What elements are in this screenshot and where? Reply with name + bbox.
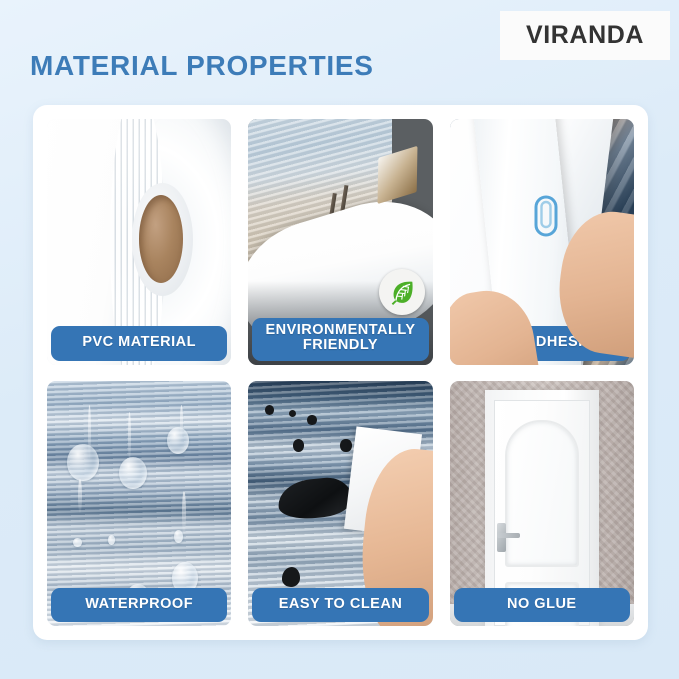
feature-cell-easy-to-clean[interactable]: EASY TO CLEAN xyxy=(248,381,432,627)
infographic-page: VIRANDA MATERIAL PROPERTIES PVC MATERIAL xyxy=(0,0,679,679)
feature-label-no-glue: NO GLUE xyxy=(454,588,630,622)
feature-card: PVC MATERIAL xyxy=(33,105,648,640)
brand-logo: VIRANDA xyxy=(500,11,670,60)
feature-cell-environmentally-friendly[interactable]: ENVIRONMENTALLY FRIENDLY xyxy=(248,119,432,365)
feature-cell-no-glue[interactable]: NO GLUE xyxy=(450,381,634,627)
page-title: MATERIAL PROPERTIES xyxy=(30,50,374,82)
feature-cell-waterproof[interactable]: WATERPROOF xyxy=(47,381,231,627)
feature-label-easy-to-clean: EASY TO CLEAN xyxy=(252,588,428,622)
feature-label-environmentally-friendly: ENVIRONMENTALLY FRIENDLY xyxy=(252,318,428,361)
feature-label-waterproof: WATERPROOF xyxy=(51,588,227,622)
paperclip-icon xyxy=(531,193,561,239)
brand-logo-text: VIRANDA xyxy=(526,21,644,50)
feature-label-line-2: FRIENDLY xyxy=(303,337,378,353)
feature-grid: PVC MATERIAL xyxy=(47,119,634,626)
leaf-icon xyxy=(379,269,425,315)
feature-label-pvc-material: PVC MATERIAL xyxy=(51,326,227,360)
feature-label-line-1: ENVIRONMENTALLY xyxy=(265,322,415,338)
feature-cell-self-adhesive[interactable]: SELF-ADHESIVE xyxy=(450,119,634,365)
feature-cell-pvc-material[interactable]: PVC MATERIAL xyxy=(47,119,231,365)
